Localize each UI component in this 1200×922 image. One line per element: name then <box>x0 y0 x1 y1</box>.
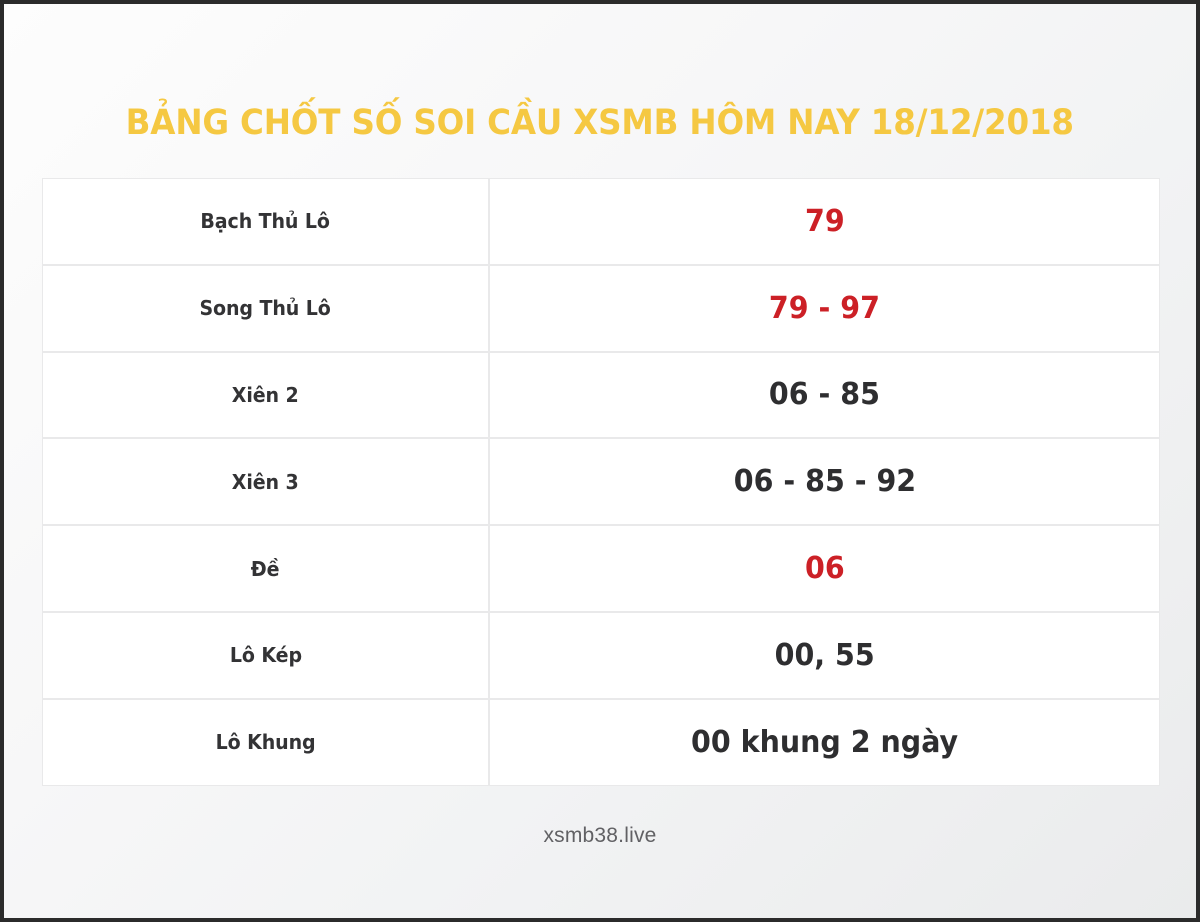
table-cell-label: Song Thủ Lô <box>42 265 489 352</box>
row-label: Xiên 2 <box>232 383 299 407</box>
table-row: Song Thủ Lô79 - 97 <box>42 265 1160 352</box>
footer: xsmb38.live <box>4 824 1196 848</box>
table-cell-label: Lô Khung <box>42 699 489 786</box>
page-title-container: BẢNG CHỐT SỐ SOI CẦU XSMB HÔM NAY 18/12/… <box>4 100 1196 146</box>
row-value: 06 - 85 <box>769 377 880 412</box>
table-cell-value: 79 <box>489 178 1160 265</box>
row-label: Lô Khung <box>216 730 316 754</box>
prediction-table: Bạch Thủ Lô79Song Thủ Lô79 - 97Xiên 206 … <box>42 178 1160 786</box>
table-row: Đề06 <box>42 525 1160 612</box>
table-cell-label: Bạch Thủ Lô <box>42 178 489 265</box>
footer-site-name: xsmb38.live <box>543 824 656 847</box>
table-cell-value: 06 - 85 - 92 <box>489 438 1160 525</box>
row-label: Đề <box>251 557 280 581</box>
row-value: 06 - 85 - 92 <box>733 464 915 499</box>
row-value: 00 khung 2 ngày <box>691 725 958 760</box>
table-cell-value: 00 khung 2 ngày <box>489 699 1160 786</box>
screenshot-root: BẢNG CHỐT SỐ SOI CẦU XSMB HÔM NAY 18/12/… <box>0 0 1200 922</box>
row-label: Lô Kép <box>229 643 301 667</box>
row-label: Song Thủ Lô <box>200 296 331 320</box>
table-row: Lô Kép00, 55 <box>42 612 1160 699</box>
row-label: Xiên 3 <box>232 470 299 494</box>
table-cell-value: 06 - 85 <box>489 352 1160 439</box>
row-label: Bạch Thủ Lô <box>201 209 330 233</box>
row-value: 06 <box>805 551 845 586</box>
page-title: BẢNG CHỐT SỐ SOI CẦU XSMB HÔM NAY 18/12/… <box>126 100 1074 146</box>
table-cell-value: 79 - 97 <box>489 265 1160 352</box>
page-canvas: BẢNG CHỐT SỐ SOI CẦU XSMB HÔM NAY 18/12/… <box>4 4 1196 918</box>
table-cell-value: 00, 55 <box>489 612 1160 699</box>
table-row: Lô Khung00 khung 2 ngày <box>42 699 1160 786</box>
table-row: Xiên 306 - 85 - 92 <box>42 438 1160 525</box>
table-cell-label: Xiên 3 <box>42 438 489 525</box>
table-cell-label: Đề <box>42 525 489 612</box>
table-row: Bạch Thủ Lô79 <box>42 178 1160 265</box>
table-row: Xiên 206 - 85 <box>42 352 1160 439</box>
prediction-table-body: Bạch Thủ Lô79Song Thủ Lô79 - 97Xiên 206 … <box>42 178 1160 786</box>
row-value: 00, 55 <box>774 638 874 673</box>
table-cell-label: Xiên 2 <box>42 352 489 439</box>
row-value: 79 <box>805 204 845 239</box>
table-cell-label: Lô Kép <box>42 612 489 699</box>
table-cell-value: 06 <box>489 525 1160 612</box>
row-value: 79 - 97 <box>769 291 880 326</box>
